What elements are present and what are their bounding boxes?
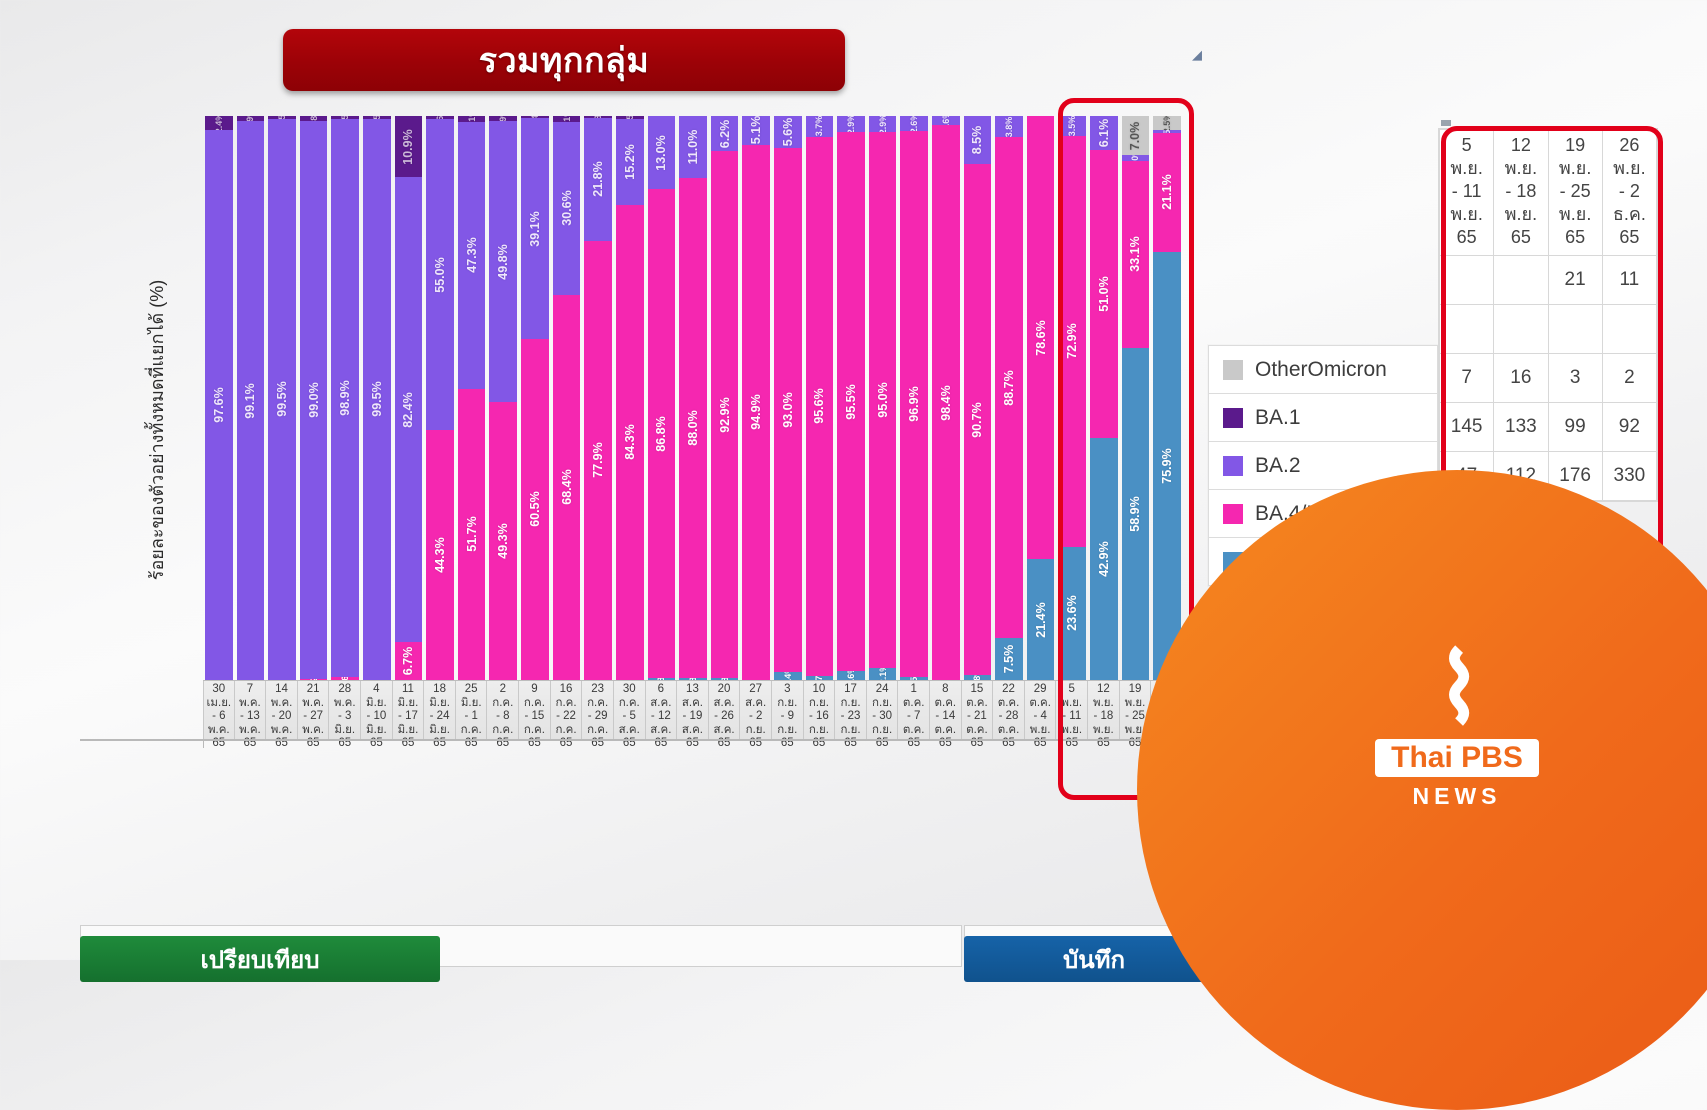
stacked-bar: 0.5%99.5% (363, 116, 391, 680)
segment-value-label: 7.5% (1002, 645, 1016, 674)
bar-segment: 95.5% (837, 132, 865, 671)
stacked-bar: 0.5%98.9%0.6% (331, 116, 359, 680)
segment-value-label: 88.7% (1002, 370, 1016, 405)
bar-segment: 21.1% (1153, 133, 1181, 252)
bar-segment: 96.9% (900, 131, 928, 678)
table-cell: 16 (1494, 354, 1548, 403)
segment-value-label: 99.5% (370, 382, 384, 417)
x-axis-tick-label: 5พ.ย.- 11พ.ย.65 (1056, 681, 1088, 740)
x-label-line: 22 (1002, 683, 1015, 697)
x-label-line: ก.ย. (746, 724, 766, 738)
x-label-line: เม.ย. (206, 697, 231, 711)
bar-segment: 6.7% (395, 642, 423, 680)
stacked-bar: 3.8%88.7%7.5% (995, 116, 1023, 680)
stacked-bar: 2.5%0.5%21.1%75.9% (1153, 116, 1181, 680)
x-axis-tick-label: 16ก.ค.- 22ก.ค.65 (551, 681, 583, 740)
stacked-bar: 2.4%97.6% (205, 116, 233, 680)
x-axis-tick-label: 3ก.ย.- 9ก.ย.65 (772, 681, 804, 740)
table-header-line: พ.ย. (1551, 157, 1600, 180)
chart-plot-area: 2.4%97.6%0.9%99.1%0.5%99.5%0.8%99.0%0.2%… (203, 116, 1183, 680)
bar-segment: 51.0% (1090, 150, 1118, 438)
x-axis-tick-label: 30เม.ย.- 6พ.ค.65 (203, 681, 235, 740)
x-label-line: ต.ค. (903, 697, 925, 711)
x-label-line: มิ.ย. (429, 697, 450, 711)
x-label-line: ส.ค. (682, 724, 703, 738)
x-label-line: ต.ค. (935, 724, 957, 738)
x-label-line: ต.ค. (966, 724, 988, 738)
bar-segment: 49.8% (489, 121, 517, 402)
bar-segment: 78.6% (1027, 116, 1055, 559)
table-row: 1451339992 (1440, 403, 1657, 452)
stacked-bars-container: 2.4%97.6%0.9%99.1%0.5%99.5%0.8%99.0%0.2%… (203, 116, 1183, 680)
segment-value-label: 21.4% (1034, 602, 1048, 637)
segment-value-label: 1.6% (941, 116, 951, 125)
x-label-line: - 30 (872, 710, 892, 724)
x-label-line: พ.ค. (334, 697, 356, 711)
x-axis-tick-label: 2ก.ค.- 8ก.ค.65 (487, 681, 519, 740)
segment-value-label: 2.9% (878, 116, 888, 132)
table-header-line: 19 (1551, 134, 1600, 157)
segment-value-label: 6.7% (401, 647, 415, 676)
x-label-line: 7 (247, 683, 253, 697)
segment-value-label: 47.3% (465, 238, 479, 273)
x-label-line: - 25 (1125, 710, 1145, 724)
stacked-bar: 2.9%95.0%2.1% (869, 116, 897, 680)
table-corner-marker (1441, 120, 1451, 126)
segment-value-label: 8.5% (970, 126, 984, 155)
table-cell (1440, 256, 1494, 305)
x-label-line: 24 (876, 683, 889, 697)
x-axis-tick-label: 22ต.ค.- 28ต.ค.65 (993, 681, 1025, 740)
stacked-bar: 3.7%95.6%0.7% (806, 116, 834, 680)
table-cell (1440, 305, 1494, 354)
table-cell (1548, 305, 1602, 354)
bar-segment: 21.8% (584, 118, 612, 241)
table-header-line: พ.ย. (1496, 203, 1545, 226)
legend-item[interactable]: OtherOmicron (1209, 346, 1437, 394)
table-cell: 2 (1602, 354, 1656, 403)
x-label-line: - 12 (651, 710, 671, 724)
x-axis-tick-label: 7พ.ค.- 13พ.ค.65 (235, 681, 267, 740)
stacked-bar: 6.2%92.9%0.3% (711, 116, 739, 680)
segment-value-label: 94.9% (749, 395, 763, 430)
x-label-line: ต.ค. (903, 724, 925, 738)
bar-segment: 98.4% (932, 125, 960, 680)
x-label-line: ก.ค. (524, 724, 545, 738)
table-header-line: 26 (1605, 134, 1654, 157)
x-label-line: มิ.ย. (334, 724, 355, 738)
x-label-line: ก.ย. (872, 697, 892, 711)
bar-segment: 88.0% (679, 178, 707, 678)
table-column-header: 26พ.ย.- 2ธ.ค.65 (1602, 130, 1656, 256)
x-axis-tick-label: 29ต.ค.- 4พ.ย.65 (1025, 681, 1057, 740)
segment-value-label: 93.0% (781, 392, 795, 427)
bar-segment: 30.6% (553, 122, 581, 294)
x-label-line: ส.ค. (682, 697, 703, 711)
bar-segment: 51.7% (458, 389, 486, 680)
segment-value-label: 42.9% (1097, 541, 1111, 576)
segment-value-label: 5.6% (781, 118, 795, 147)
stacked-bar: 13.0%86.8%0.3% (648, 116, 676, 680)
x-label-line: 29 (1034, 683, 1047, 697)
x-axis-tick-label: 6ส.ค.- 12ส.ค.65 (646, 681, 678, 740)
bar-segment: 7.5% (995, 638, 1023, 680)
segment-value-label: 86.8% (654, 416, 668, 451)
x-axis-tick-label: 15ต.ค.- 21ต.ค.65 (962, 681, 994, 740)
segment-value-label: 51.7% (465, 517, 479, 552)
table-header-line: - 18 (1496, 180, 1545, 203)
bar-column[interactable]: 3.5%72.9%23.6% (1056, 116, 1088, 680)
segment-value-label: 95.6% (812, 389, 826, 424)
segment-value-label: 49.3% (496, 523, 510, 558)
stacked-bar: 8.5%90.7%0.8% (964, 116, 992, 680)
segment-value-label: 33.1% (1128, 237, 1142, 272)
x-label-line: ต.ค. (998, 724, 1020, 738)
table-cell (1494, 305, 1548, 354)
stacked-bar: 0.4%39.1%60.5% (521, 116, 549, 680)
x-axis-tick-label: 11มิ.ย.- 17มิ.ย.65 (393, 681, 425, 740)
table-header-line: พ.ย. (1496, 157, 1545, 180)
legend-item-label: BA.2 (1255, 454, 1301, 478)
bar-segment: 6.1% (1090, 116, 1118, 150)
bar-segment: 98.9% (331, 119, 359, 677)
x-axis-tick-label: 18มิ.ย.- 24มิ.ย.65 (424, 681, 456, 740)
x-label-line: 13 (686, 683, 699, 697)
x-label-line: - 20 (272, 710, 292, 724)
stacked-bar: 5.6%93.0%1.4% (774, 116, 802, 680)
x-label-line: 2 (500, 683, 506, 697)
bar-column[interactable]: 0.6%55.0%44.3% (424, 116, 456, 680)
bar-segment: 8.5% (964, 116, 992, 164)
thaipbs-feather-icon: ⌇ (1327, 647, 1587, 733)
legend-item-label: OtherOmicron (1255, 358, 1387, 382)
bar-segment: 1.4% (774, 672, 802, 680)
bar-column[interactable]: 78.6%21.4% (1025, 116, 1057, 680)
bar-segment: 99.1% (237, 121, 265, 680)
bar-column[interactable]: 0.8%99.0%0.2% (298, 116, 330, 680)
bar-segment: 21.4% (1027, 559, 1055, 680)
x-label-line: - 13 (240, 710, 260, 724)
x-label-line: มิ.ย. (461, 697, 482, 711)
x-axis-tick-label: 21พ.ค.- 27พ.ค.65 (298, 681, 330, 740)
bar-column[interactable]: 7.0%1.0%33.1%58.9% (1120, 116, 1152, 680)
bar-segment: 1.6% (932, 116, 960, 125)
segment-value-label: 77.9% (591, 443, 605, 478)
x-label-line: 3 (784, 683, 790, 697)
x-label-line: พ.ย. (1125, 697, 1146, 711)
summary-data-table: 5พ.ย.- 11พ.ย.6512พ.ย.- 18พ.ย.6519พ.ย.- 2… (1438, 128, 1658, 502)
bar-column[interactable]: 2.9%95.0%2.1% (867, 116, 899, 680)
segment-value-label: 68.4% (560, 470, 574, 505)
x-label-line: 16 (560, 683, 573, 697)
table-cell (1494, 256, 1548, 305)
bar-column[interactable]: 2.5%0.5%21.1%75.9% (1151, 116, 1183, 680)
table-cell: 21 (1548, 256, 1602, 305)
x-label-line: - 2 (749, 710, 762, 724)
x-label-line: ก.ย. (777, 697, 797, 711)
segment-value-label: 51.0% (1097, 276, 1111, 311)
stacked-bar: 2.6%96.9%0.5% (900, 116, 928, 680)
x-label-line: ก.ค. (461, 724, 482, 738)
segment-value-label: 3.7% (814, 116, 824, 137)
bar-segment: 3.5% (1058, 116, 1086, 136)
legend-item[interactable]: BA.1 (1209, 394, 1437, 442)
axis-baseline (80, 739, 1190, 741)
x-label-line: - 19 (683, 710, 703, 724)
stacked-bar: 0.5%99.5% (268, 116, 296, 680)
segment-value-label: 49.8% (496, 244, 510, 279)
table-cell: 3 (1548, 354, 1602, 403)
segment-value-label: 88.0% (686, 411, 700, 446)
x-label-line: พ.ค. (302, 697, 324, 711)
stacked-bar: 6.1%51.0%42.9% (1090, 116, 1118, 680)
bar-segment: 47.3% (458, 122, 486, 389)
segment-value-label: 15.2% (623, 144, 637, 179)
bar-column[interactable]: 0.4%39.1%60.5% (519, 116, 551, 680)
bar-column[interactable]: 0.5%15.2%84.3% (614, 116, 646, 680)
segment-value-label: 99.0% (307, 382, 321, 417)
bar-segment: 82.4% (395, 177, 423, 642)
x-label-line: พ.ค. (271, 697, 293, 711)
table-column-header: 12พ.ย.- 18พ.ย.65 (1494, 130, 1548, 256)
bar-column[interactable]: 0.3%21.8%77.9% (582, 116, 614, 680)
bar-segment: 49.3% (489, 402, 517, 680)
x-label-line: ก.ค. (492, 724, 513, 738)
x-label-line: - 23 (841, 710, 861, 724)
x-label-line: 6 (658, 683, 664, 697)
bar-segment: 11.0% (679, 116, 707, 178)
x-label-line: - 4 (1033, 710, 1046, 724)
x-axis-tick-label: 10ก.ย.- 16ก.ย.65 (804, 681, 836, 740)
table-cell: 133 (1494, 403, 1548, 452)
table-header-line: 65 (1496, 226, 1545, 249)
segment-value-label: 2.1% (878, 668, 888, 680)
stacked-bar: 78.6%21.4% (1027, 116, 1055, 680)
segment-value-label: 99.1% (243, 383, 257, 418)
bar-column[interactable]: 10.9%82.4%6.7% (393, 116, 425, 680)
x-label-line: - 8 (496, 710, 509, 724)
x-axis-tick-label: 8ต.ค.- 14ต.ค.65 (930, 681, 962, 740)
bar-segment: 72.9% (1058, 136, 1086, 547)
segment-value-label: 72.9% (1065, 324, 1079, 359)
bar-segment: 2.1% (869, 668, 897, 680)
table-header-line: 65 (1551, 226, 1600, 249)
segment-value-label: 98.9% (338, 380, 352, 415)
table-cell: 11 (1602, 256, 1656, 305)
x-label-line: 30 (623, 683, 636, 697)
table-header-line: พ.ย. (1551, 203, 1600, 226)
x-label-line: - 18 (1093, 710, 1113, 724)
thaipbs-brand-name: Thai PBS (1375, 739, 1539, 777)
stacked-bar: 0.9%99.1% (237, 116, 265, 680)
table-cell: 145 (1440, 403, 1494, 452)
table-header-line: พ.ย. (1442, 203, 1491, 226)
bar-column[interactable]: 2.6%96.9%0.5% (898, 116, 930, 680)
bar-column[interactable]: 2.4%97.6% (203, 116, 235, 680)
bar-column[interactable]: 1.1%47.3%51.7% (456, 116, 488, 680)
table-cell: 92 (1602, 403, 1656, 452)
chart-title: รวมทุกกลุ่ม (479, 33, 650, 87)
y-axis-label: ร้อยละของตัวอย่างทั้งหมดที่แยกได้ (%) (142, 210, 171, 650)
bar-segment: 2.5% (1153, 116, 1181, 130)
bar-segment: 7.0% (1122, 116, 1150, 155)
segment-value-label: 30.6% (560, 191, 574, 226)
x-label-line: พ.ค. (271, 724, 293, 738)
x-label-line: 20 (718, 683, 731, 697)
bar-column[interactable]: 0.9%99.1% (235, 116, 267, 680)
bar-column[interactable]: 6.2%92.9%0.3% (709, 116, 741, 680)
segment-value-label: 39.1% (528, 211, 542, 246)
bar-segment: 77.9% (584, 241, 612, 680)
x-label-line: 19 (1129, 683, 1142, 697)
bar-column[interactable]: 1.6%98.4% (930, 116, 962, 680)
segment-value-label: 7.0% (1128, 121, 1142, 150)
stacked-bar: 11.0%88.0%0.3% (679, 116, 707, 680)
x-label-line: พ.ค. (239, 724, 261, 738)
cursor-marker: ◢ (1192, 47, 1202, 59)
segment-value-label: 10.9% (401, 129, 415, 164)
legend-color-swatch-icon (1223, 360, 1243, 380)
bar-column[interactable]: 0.5%99.5% (266, 116, 298, 680)
x-label-line: ส.ค. (714, 697, 735, 711)
stacked-bar: 3.5%72.9%23.6% (1058, 116, 1086, 680)
x-axis-tick-label: 4มิ.ย.- 10มิ.ย.65 (361, 681, 393, 740)
bar-segment: 60.5% (521, 339, 549, 680)
x-axis-tick-label: 27ส.ค.- 2ก.ย.65 (740, 681, 772, 740)
bar-column[interactable]: 13.0%86.8%0.3% (646, 116, 678, 680)
segment-value-label: 1.4% (783, 672, 793, 680)
bar-segment: 95.0% (869, 132, 897, 668)
x-label-line: ก.ค. (492, 697, 513, 711)
bar-segment: 95.6% (806, 137, 834, 676)
x-label-line: 23 (591, 683, 604, 697)
segment-value-label: 2.5% (1162, 116, 1172, 130)
x-label-line: ก.ย. (840, 697, 860, 711)
segment-value-label: 78.6% (1034, 320, 1048, 355)
segment-value-label: 2.9% (846, 116, 856, 132)
stacked-bar: 1.1%30.6%68.4% (553, 116, 581, 680)
bar-segment: 10.9% (395, 116, 423, 177)
x-label-line: - 22 (556, 710, 576, 724)
segment-value-label: 75.9% (1160, 448, 1174, 483)
x-label-line: พ.ย. (1030, 724, 1051, 738)
x-label-line: พ.ย. (1093, 724, 1114, 738)
x-label-line: มิ.ย. (398, 697, 419, 711)
segment-value-label: 21.8% (591, 161, 605, 196)
bar-segment: 93.0% (774, 148, 802, 673)
x-label-line: ก.ย. (840, 724, 860, 738)
bar-column[interactable]: 3.7%95.6%0.7% (804, 116, 836, 680)
x-axis-tick-label: 1ต.ค.- 7ต.ค.65 (898, 681, 930, 740)
segment-value-label: 23.6% (1065, 596, 1079, 631)
segment-value-label: 98.4% (939, 385, 953, 420)
x-label-line: 27 (749, 683, 762, 697)
bar-column[interactable]: 11.0%88.0%0.3% (677, 116, 709, 680)
x-label-line: พ.ย. (1093, 697, 1114, 711)
table-cell: 330 (1602, 452, 1656, 501)
bar-segment: 90.7% (964, 164, 992, 676)
x-label-line: - 7 (907, 710, 920, 724)
bar-segment: 39.1% (521, 118, 549, 339)
stacked-bar: 0.9%49.8%49.3% (489, 116, 517, 680)
x-label-line: 17 (844, 683, 857, 697)
bar-column[interactable]: 5.1%94.9% (740, 116, 772, 680)
table-row: 71632 (1440, 354, 1657, 403)
x-axis-tick-label: 25มิ.ย.- 1ก.ค.65 (456, 681, 488, 740)
x-label-line: พ.ค. (208, 724, 230, 738)
legend-color-swatch-icon (1223, 408, 1243, 428)
x-label-line: 14 (275, 683, 288, 697)
bar-column[interactable]: 0.5%99.5% (361, 116, 393, 680)
bar-segment: 44.3% (426, 430, 454, 680)
x-axis-tick-label: 30ก.ค.- 5ส.ค.65 (614, 681, 646, 740)
legend-color-swatch-icon (1223, 504, 1243, 524)
bar-column[interactable]: 6.1%51.0%42.9% (1088, 116, 1120, 680)
segment-value-label: 58.9% (1128, 496, 1142, 531)
bar-column[interactable]: 0.5%98.9%0.6% (329, 116, 361, 680)
x-label-line: 4 (373, 683, 379, 697)
segment-value-label: 84.3% (623, 425, 637, 460)
table-header-line: 12 (1496, 134, 1545, 157)
x-axis-tick-label: 20ส.ค.- 26ส.ค.65 (709, 681, 741, 740)
bar-segment: 86.8% (648, 189, 676, 678)
x-axis-tick-label: 24ก.ย.- 30ก.ย.65 (867, 681, 899, 740)
bar-column[interactable]: 2.9%95.5%1.6% (835, 116, 867, 680)
x-label-line: ก.ย. (809, 724, 829, 738)
x-axis-tick-label: 12พ.ย.- 18พ.ย.65 (1088, 681, 1120, 740)
x-label-line: ต.ค. (966, 697, 988, 711)
x-label-line: 9 (531, 683, 537, 697)
segment-value-label: 99.5% (275, 382, 289, 417)
segment-value-label: 1.6% (846, 671, 856, 680)
compare-button[interactable]: เปรียบเทียบ (80, 936, 440, 982)
x-label-line: 11 (402, 683, 414, 697)
segment-value-label: 82.4% (401, 392, 415, 427)
table-column-header: 19พ.ย.- 25พ.ย.65 (1548, 130, 1602, 256)
x-label-line: - 29 (588, 710, 608, 724)
bar-column[interactable]: 1.1%30.6%68.4% (551, 116, 583, 680)
x-label-line: 30 (212, 683, 225, 697)
segment-value-label: 97.6% (212, 387, 226, 422)
bar-column[interactable]: 0.9%49.8%49.3% (487, 116, 519, 680)
x-label-line: ส.ค. (619, 724, 640, 738)
x-label-line: ต.ค. (998, 697, 1020, 711)
x-label-line: ก.ค. (555, 724, 576, 738)
x-label-line: ก.ค. (587, 724, 608, 738)
x-label-line: - 28 (999, 710, 1019, 724)
bar-column[interactable]: 3.8%88.7%7.5% (993, 116, 1025, 680)
x-label-line: พ.ค. (239, 697, 261, 711)
bar-column[interactable]: 8.5%90.7%0.8% (962, 116, 994, 680)
x-label-line: 1 (911, 683, 917, 697)
bar-segment: 15.2% (616, 119, 644, 205)
legend-color-swatch-icon (1223, 456, 1243, 476)
bar-segment: 5.1% (742, 116, 770, 145)
bar-segment: 2.4% (205, 116, 233, 130)
x-axis-tick-label: 9ก.ค.- 15ก.ค.65 (519, 681, 551, 740)
segment-value-label: 44.3% (433, 537, 447, 572)
bar-segment: 55.0% (426, 119, 454, 430)
stacked-bar: 0.8%99.0%0.2% (300, 116, 328, 680)
bar-column[interactable]: 5.6%93.0%1.4% (772, 116, 804, 680)
bar-segment: 3.8% (995, 116, 1023, 137)
x-label-line: ก.ค. (555, 697, 576, 711)
segment-value-label: 55.0% (433, 257, 447, 292)
x-label-line: - 16 (809, 710, 829, 724)
stacked-bar: 7.0%1.0%33.1%58.9% (1122, 116, 1150, 680)
legend-item-label: BA.1 (1255, 406, 1301, 430)
stacked-bar: 5.1%94.9% (742, 116, 770, 680)
